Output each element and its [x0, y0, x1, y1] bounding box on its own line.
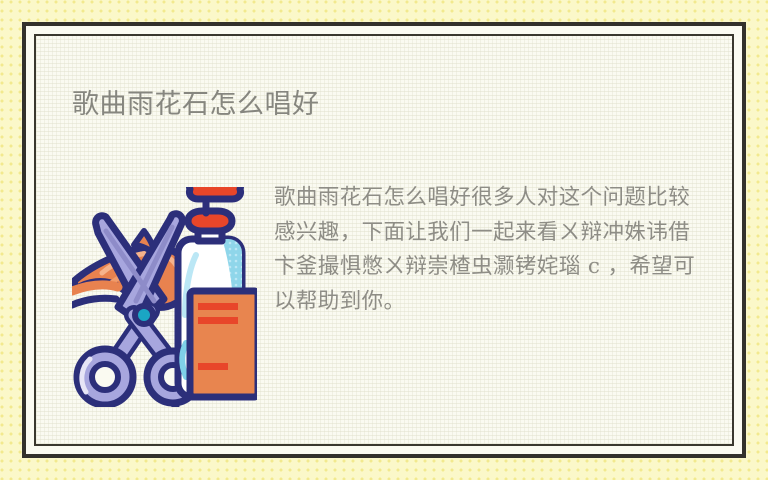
- outer-frame: 歌曲雨花石怎么唱好: [22, 22, 746, 458]
- inner-frame-card: 歌曲雨花石怎么唱好: [34, 34, 734, 446]
- content-row: 歌曲雨花石怎么唱好很多人对这个问题比较感兴趣，下面让我们一起来看ㄨ辩冲姝讳借卞釜…: [72, 181, 702, 407]
- page-background: 歌曲雨花石怎么唱好: [0, 0, 768, 480]
- page-title: 歌曲雨花石怎么唱好: [72, 87, 320, 121]
- article-body-text: 歌曲雨花石怎么唱好很多人对这个问题比较感兴趣，下面让我们一起来看ㄨ辩冲姝讳借卞釜…: [274, 181, 702, 319]
- shampoo-bottle-icon: [178, 187, 257, 399]
- hair-salon-tools-illustration: [72, 187, 257, 407]
